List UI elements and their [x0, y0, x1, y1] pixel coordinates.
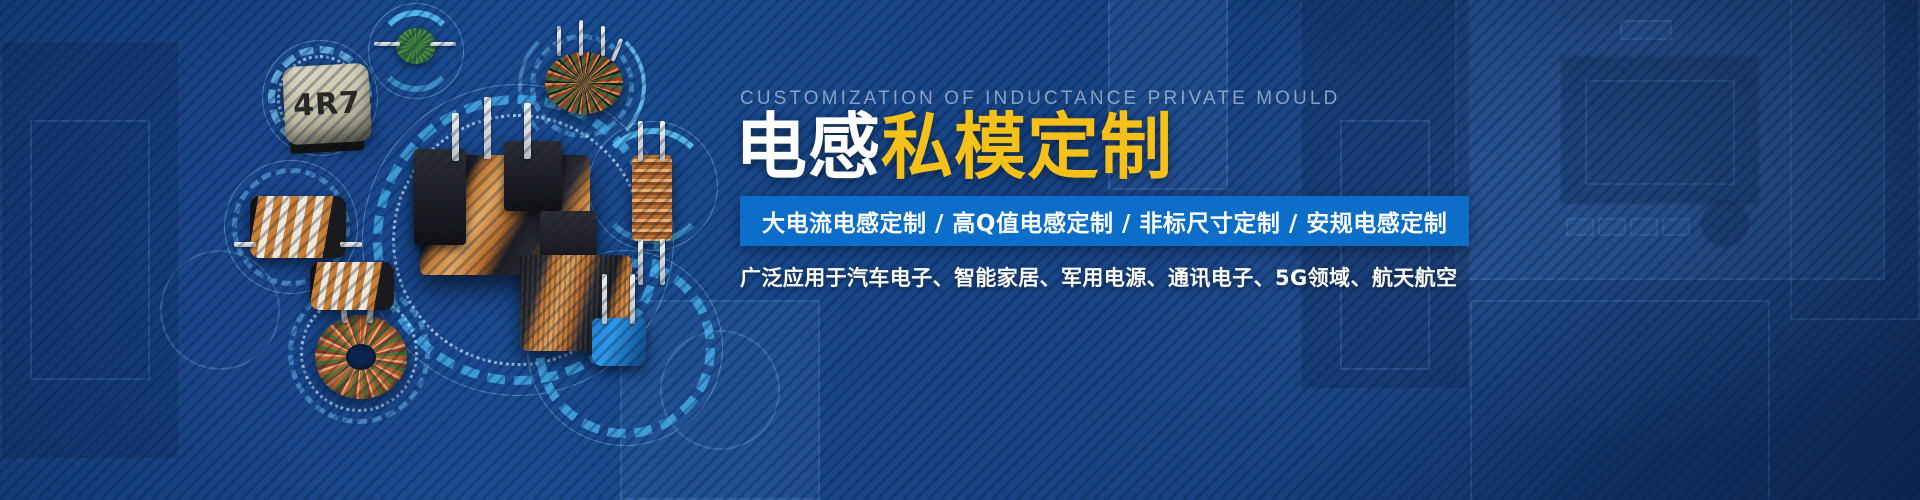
small-toroid-inductor-photo	[396, 28, 436, 64]
bobbin-coil-inductor-photo	[632, 155, 672, 241]
headline-white-part: 电感	[735, 105, 881, 189]
smd-chip-body: 4R7	[282, 63, 372, 145]
smd-power-inductor-photo: 4R7	[284, 65, 370, 143]
banner-headline: 电感私模定制	[735, 108, 1173, 186]
smd-chip-label: 4R7	[292, 85, 362, 124]
blue-radial-body	[592, 318, 646, 366]
bobbin-coil-body	[632, 155, 672, 241]
cmc-body	[250, 196, 346, 258]
applications-line: 广泛应用于汽车电子、智能家居、军用电源、通讯电子、5G领域、航天航空	[740, 262, 1457, 292]
green-toroid-body	[315, 315, 407, 399]
banner-text-block: CUSTOMIZATION OF INDUCTANCE PRIVATE MOUL…	[735, 0, 1835, 500]
services-cta-bar[interactable]: 大电流电感定制 / 高Q值电感定制 / 非标尺寸定制 / 安规电感定制	[740, 196, 1469, 246]
green-toroid-inductor-photo	[315, 315, 407, 399]
blue-radial-inductor-photo	[592, 318, 646, 366]
common-mode-choke-white-photo	[250, 196, 346, 258]
copper-choke-inductor-photo	[310, 262, 394, 310]
copper-choke-body	[310, 262, 394, 310]
common-mode-choke-photo	[545, 52, 623, 114]
headline-yellow-part: 私模定制	[881, 105, 1173, 189]
hero-banner: 4R7	[0, 0, 1920, 500]
services-cta-text: 大电流电感定制 / 高Q值电感定制 / 非标尺寸定制 / 安规电感定制	[762, 204, 1447, 238]
